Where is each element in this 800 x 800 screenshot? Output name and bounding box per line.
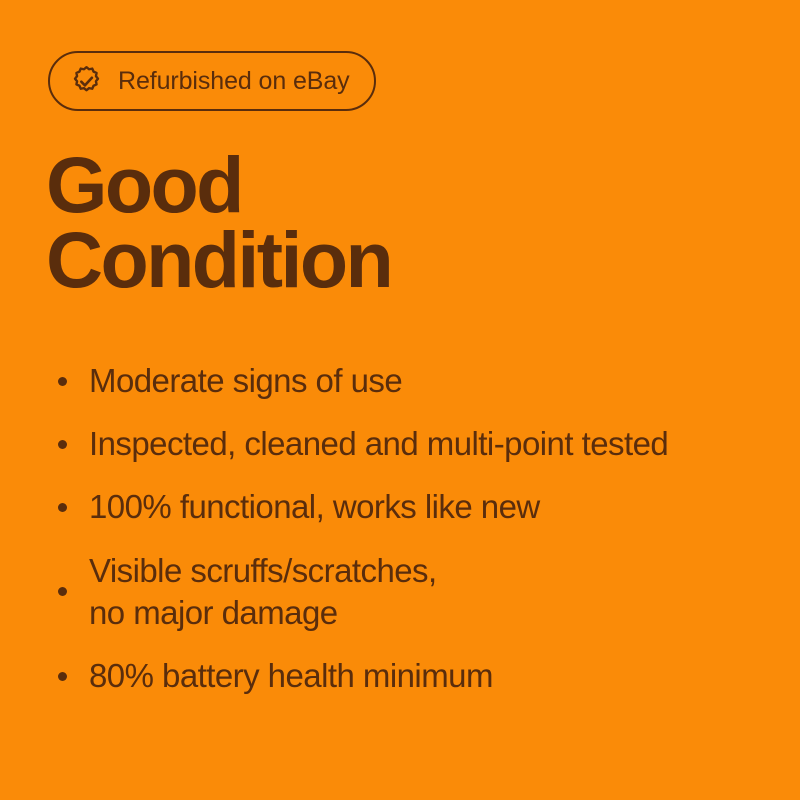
bullet-icon — [58, 377, 67, 386]
list-item: Visible scruffs/scratches, no major dama… — [48, 550, 758, 634]
list-item-label: 80% battery health minimum — [89, 655, 493, 697]
list-item: 80% battery health minimum — [48, 655, 758, 697]
refurbished-condition-card: Refurbished on eBay Good Condition Moder… — [0, 0, 800, 800]
condition-feature-list: Moderate signs of use Inspected, cleaned… — [48, 360, 758, 697]
refurbished-badge-label: Refurbished on eBay — [118, 69, 350, 94]
list-item-label: Inspected, cleaned and multi-point teste… — [89, 423, 668, 465]
bullet-icon — [58, 672, 67, 681]
list-item: Inspected, cleaned and multi-point teste… — [48, 423, 758, 465]
page-title-line-1: Good — [46, 147, 391, 222]
bullet-icon — [58, 587, 67, 596]
refurbished-badge: Refurbished on eBay — [48, 51, 376, 111]
list-item-label: Visible scruffs/scratches, no major dama… — [89, 550, 437, 634]
page-title-line-2: Condition — [46, 222, 391, 297]
page-title: Good Condition — [46, 147, 391, 297]
list-item: Moderate signs of use — [48, 360, 758, 402]
bullet-icon — [58, 503, 67, 512]
list-item: 100% functional, works like new — [48, 486, 758, 528]
list-item-label: 100% functional, works like new — [89, 486, 540, 528]
verified-rosette-check-icon — [70, 65, 103, 98]
list-item-label: Moderate signs of use — [89, 360, 402, 402]
bullet-icon — [58, 440, 67, 449]
